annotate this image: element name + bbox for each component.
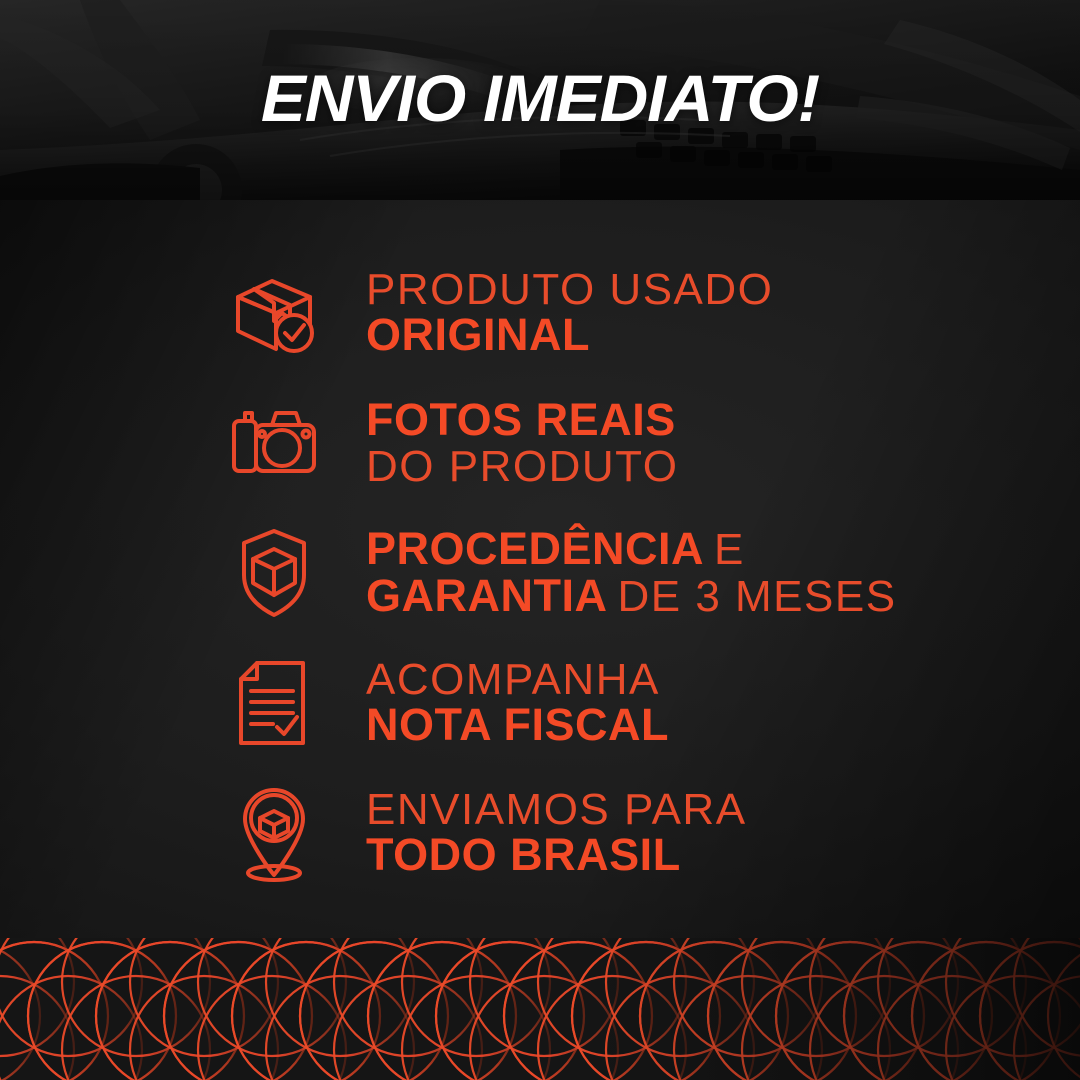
feature-line-1: PROCEDÊNCIAE [366,526,897,573]
feature-item-fotos-reais: FOTOS REAIS DO PRODUTO [0,378,1080,508]
feature-labels: PROCEDÊNCIAE GARANTIADE 3 MESES [366,526,897,620]
feature-labels: ACOMPANHA NOTA FISCAL [366,657,669,750]
feature-line-1-light: E [714,525,745,574]
feature-labels: FOTOS REAIS DO PRODUTO [366,397,678,490]
feature-line-1: FOTOS REAIS [366,397,678,444]
banner-title: ENVIO IMEDIATO! [0,60,1080,136]
camera-icon [226,393,322,493]
features-list: PRODUTO USADO ORIGINAL FOTOS REAIS DO [0,200,1080,920]
feature-line-1: ACOMPANHA [366,657,669,703]
feature-item-produto-usado: PRODUTO USADO ORIGINAL [0,248,1080,378]
feature-labels: PRODUTO USADO ORIGINAL [366,267,773,360]
promo-banner-page: ENVIO IMEDIATO! PRODUTO USADO ORIGINAL [0,0,1080,1080]
geometric-circle-pattern [0,938,1080,1080]
feature-line-1: PRODUTO USADO [366,267,773,313]
feature-line-1: ENVIAMOS PARA [366,787,747,833]
feature-line-2: NOTA FISCAL [366,702,669,749]
feature-labels: ENVIAMOS PARA TODO BRASIL [366,787,747,880]
feature-line-2-bold: GARANTIA [366,570,607,621]
feature-line-2: DO PRODUTO [366,444,678,490]
feature-item-procedencia-garantia: PROCEDÊNCIAE GARANTIADE 3 MESES [0,508,1080,638]
footer-decorative-pattern [0,938,1080,1080]
shield-box-icon [226,523,322,623]
feature-line-2: GARANTIADE 3 MESES [366,573,897,620]
feature-line-2: TODO BRASIL [366,832,747,879]
feature-line-1-bold: PROCEDÊNCIA [366,523,704,574]
feature-item-todo-brasil: ENVIAMOS PARA TODO BRASIL [0,768,1080,898]
feature-line-2-light: DE 3 MESES [617,572,896,621]
feature-item-nota-fiscal: ACOMPANHA NOTA FISCAL [0,638,1080,768]
feature-line-2: ORIGINAL [366,312,773,359]
header-banner: ENVIO IMEDIATO! [0,0,1080,202]
invoice-document-check-icon [226,653,322,753]
location-pin-box-icon [226,783,322,883]
package-box-check-icon [226,263,322,363]
